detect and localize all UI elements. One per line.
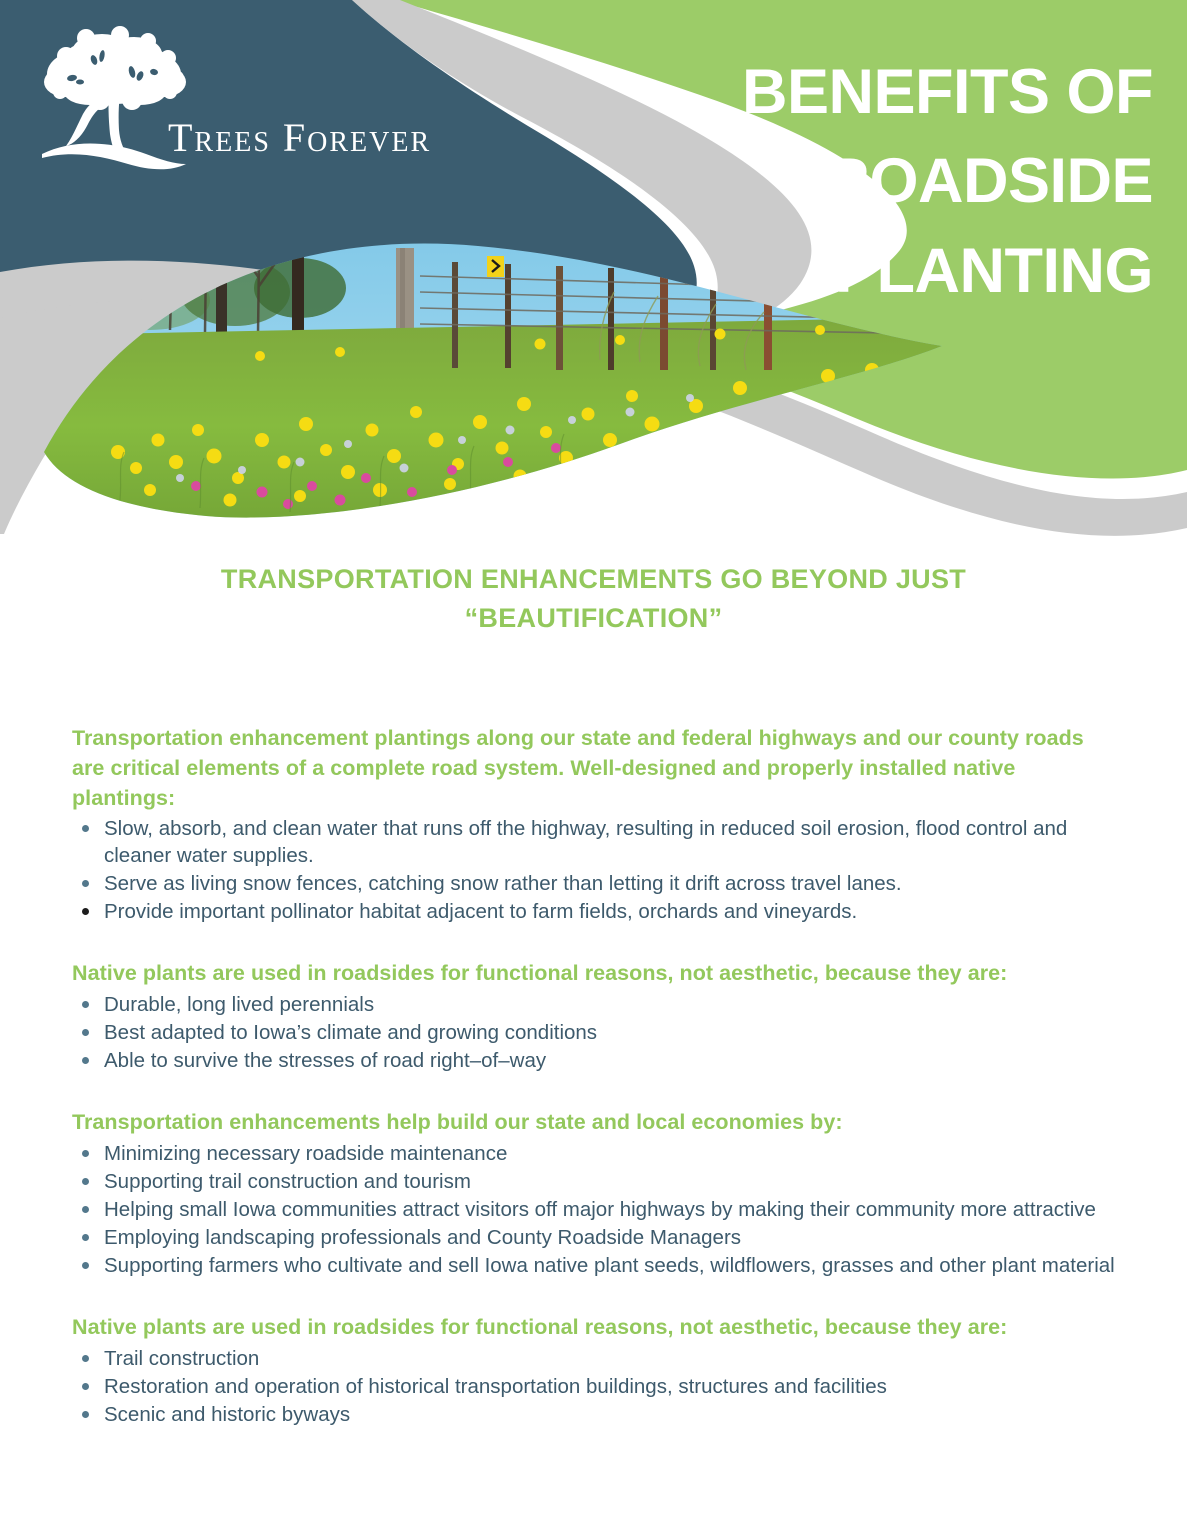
block-heading: Transportation enhancement plantings alo…: [72, 724, 1122, 813]
bullet-list: Minimizing necessary roadside maintenanc…: [72, 1140, 1122, 1279]
brand-wordmark: Trees Forever: [168, 118, 431, 158]
brand-logo-lockup: Trees Forever: [36, 22, 436, 182]
content-block: Transportation enhancements help build o…: [72, 1108, 1122, 1279]
bullet-item: Best adapted to Iowa’s climate and growi…: [72, 1019, 1122, 1046]
block-heading: Transportation enhancements help build o…: [72, 1108, 1122, 1138]
bullet-item: Serve as living snow fences, catching sn…: [72, 870, 1122, 897]
content-block: Native plants are used in roadsides for …: [72, 959, 1122, 1074]
bullet-list: Durable, long lived perennialsBest adapt…: [72, 991, 1122, 1074]
body-blocks: Transportation enhancement plantings alo…: [72, 724, 1122, 1428]
bullet-item: Scenic and historic byways: [72, 1401, 1122, 1428]
bullet-item: Minimizing necessary roadside maintenanc…: [72, 1140, 1122, 1167]
bullet-item: Trail construction: [72, 1345, 1122, 1372]
block-heading: Native plants are used in roadsides for …: [72, 1313, 1122, 1343]
content-block: Native plants are used in roadsides for …: [72, 1313, 1122, 1428]
content-area: Transportation enhancements go beyond ju…: [0, 560, 1187, 1343]
bullet-item: Restoration and operation of historical …: [72, 1373, 1122, 1400]
bullet-item: Durable, long lived perennials: [72, 991, 1122, 1018]
page-title: Benefits of Roadside Planting: [593, 48, 1153, 316]
bullet-item: Able to survive the stresses of road rig…: [72, 1047, 1122, 1074]
block-heading: Native plants are used in roadsides for …: [72, 959, 1122, 989]
page-title-line-1: Benefits of: [593, 48, 1153, 137]
page-title-line-3: Planting: [593, 227, 1153, 316]
bullet-list: Trail constructionRestoration and operat…: [72, 1345, 1122, 1428]
bullet-item: Helping small Iowa communities attract v…: [72, 1196, 1122, 1223]
header-banner: Trees Forever Benefits of Roadside Plant…: [0, 0, 1187, 540]
content-block: Transportation enhancement plantings alo…: [72, 724, 1122, 925]
bullet-item: Supporting farmers who cultivate and sel…: [72, 1252, 1122, 1279]
section-heading: Transportation enhancements go beyond ju…: [129, 560, 1059, 638]
bullet-item: Supporting trail construction and touris…: [72, 1168, 1122, 1195]
bullet-list: Slow, absorb, and clean water that runs …: [72, 815, 1122, 925]
page-title-line-2: Roadside: [593, 137, 1153, 226]
bullet-item: Slow, absorb, and clean water that runs …: [72, 815, 1122, 869]
bullet-item: Employing landscaping professionals and …: [72, 1224, 1122, 1251]
bullet-item: Provide important pollinator habitat adj…: [72, 898, 1122, 925]
